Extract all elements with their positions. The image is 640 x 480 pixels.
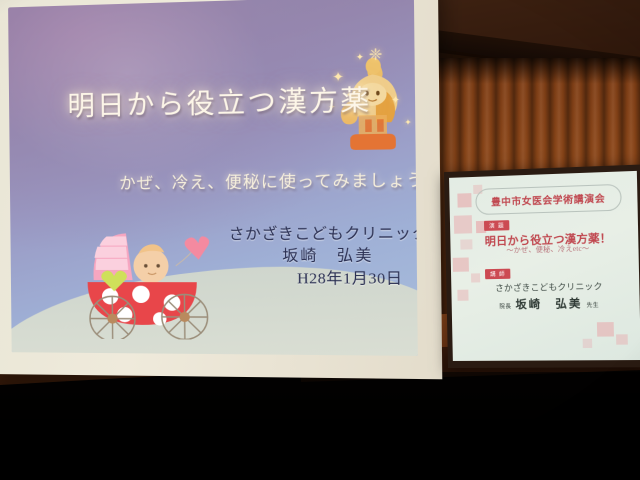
secondary-slide: 豊中市女医会学術講演会 演 題 明日から役立つ漢方薬！ 〜かぜ、便秘、冷えetc… — [449, 171, 640, 361]
confetti-square — [454, 215, 472, 234]
secondary-speaker-name: 坂崎 弘美 — [515, 298, 582, 311]
confetti-square — [616, 334, 628, 344]
presenter-name: 坂崎 弘美 — [211, 246, 418, 269]
sparkle-icon: ✦ — [391, 96, 400, 107]
main-slide: ✦ ✦ ✦ ✦ ✦ ✦ ❈ 明日から役立つ漢方薬 かぜ、冷え、便秘に使ってみまし… — [8, 0, 418, 356]
curtain-top-shadow — [424, 58, 640, 84]
sparkle-icon: ✦ — [356, 53, 364, 63]
speaker-honorific: 先生 — [587, 303, 600, 309]
secondary-slide-header: 豊中市女医会学術講演会 — [475, 184, 622, 215]
main-slide-subtitle: かぜ、冷え、便秘に使ってみましょう！ — [119, 165, 418, 193]
speaker-position: 院長 — [499, 304, 511, 310]
main-slide-title: 明日から役立つ漢方薬 — [67, 77, 382, 123]
secondary-speaker-line: 院長 坂崎 弘美 先生 — [467, 293, 632, 314]
confetti-square — [471, 273, 480, 282]
main-projection-screen[interactable]: ✦ ✦ ✦ ✦ ✦ ✦ ❈ 明日から役立つ漢方薬 かぜ、冷え、便秘に使ってみまし… — [0, 0, 442, 379]
confetti-square — [453, 257, 469, 271]
presentation-date: H28年1月30日 — [211, 268, 418, 290]
sparkle-icon: ✦ — [404, 119, 411, 128]
speaker-badge: 講 師 — [485, 269, 511, 280]
confetti-square — [597, 322, 614, 337]
sparkle-icon: ❈ — [369, 48, 383, 64]
clinic-name: さかざきこどもクリニック — [211, 223, 418, 246]
confetti-square — [583, 339, 593, 348]
topic-badge: 演 題 — [484, 220, 510, 231]
lecture-hall-scene: ✦ ✦ ✦ ✦ ✦ ✦ ❈ 明日から役立つ漢方薬 かぜ、冷え、便秘に使ってみまし… — [0, 0, 640, 480]
stage-shadow — [0, 372, 640, 480]
confetti-square — [457, 193, 471, 208]
main-slide-credit: さかざきこどもクリニック 坂崎 弘美 H28年1月30日 — [211, 223, 418, 290]
secondary-monitor-screen[interactable]: 豊中市女医会学術講演会 演 題 明日から役立つ漢方薬！ 〜かぜ、便秘、冷えetc… — [444, 164, 640, 368]
